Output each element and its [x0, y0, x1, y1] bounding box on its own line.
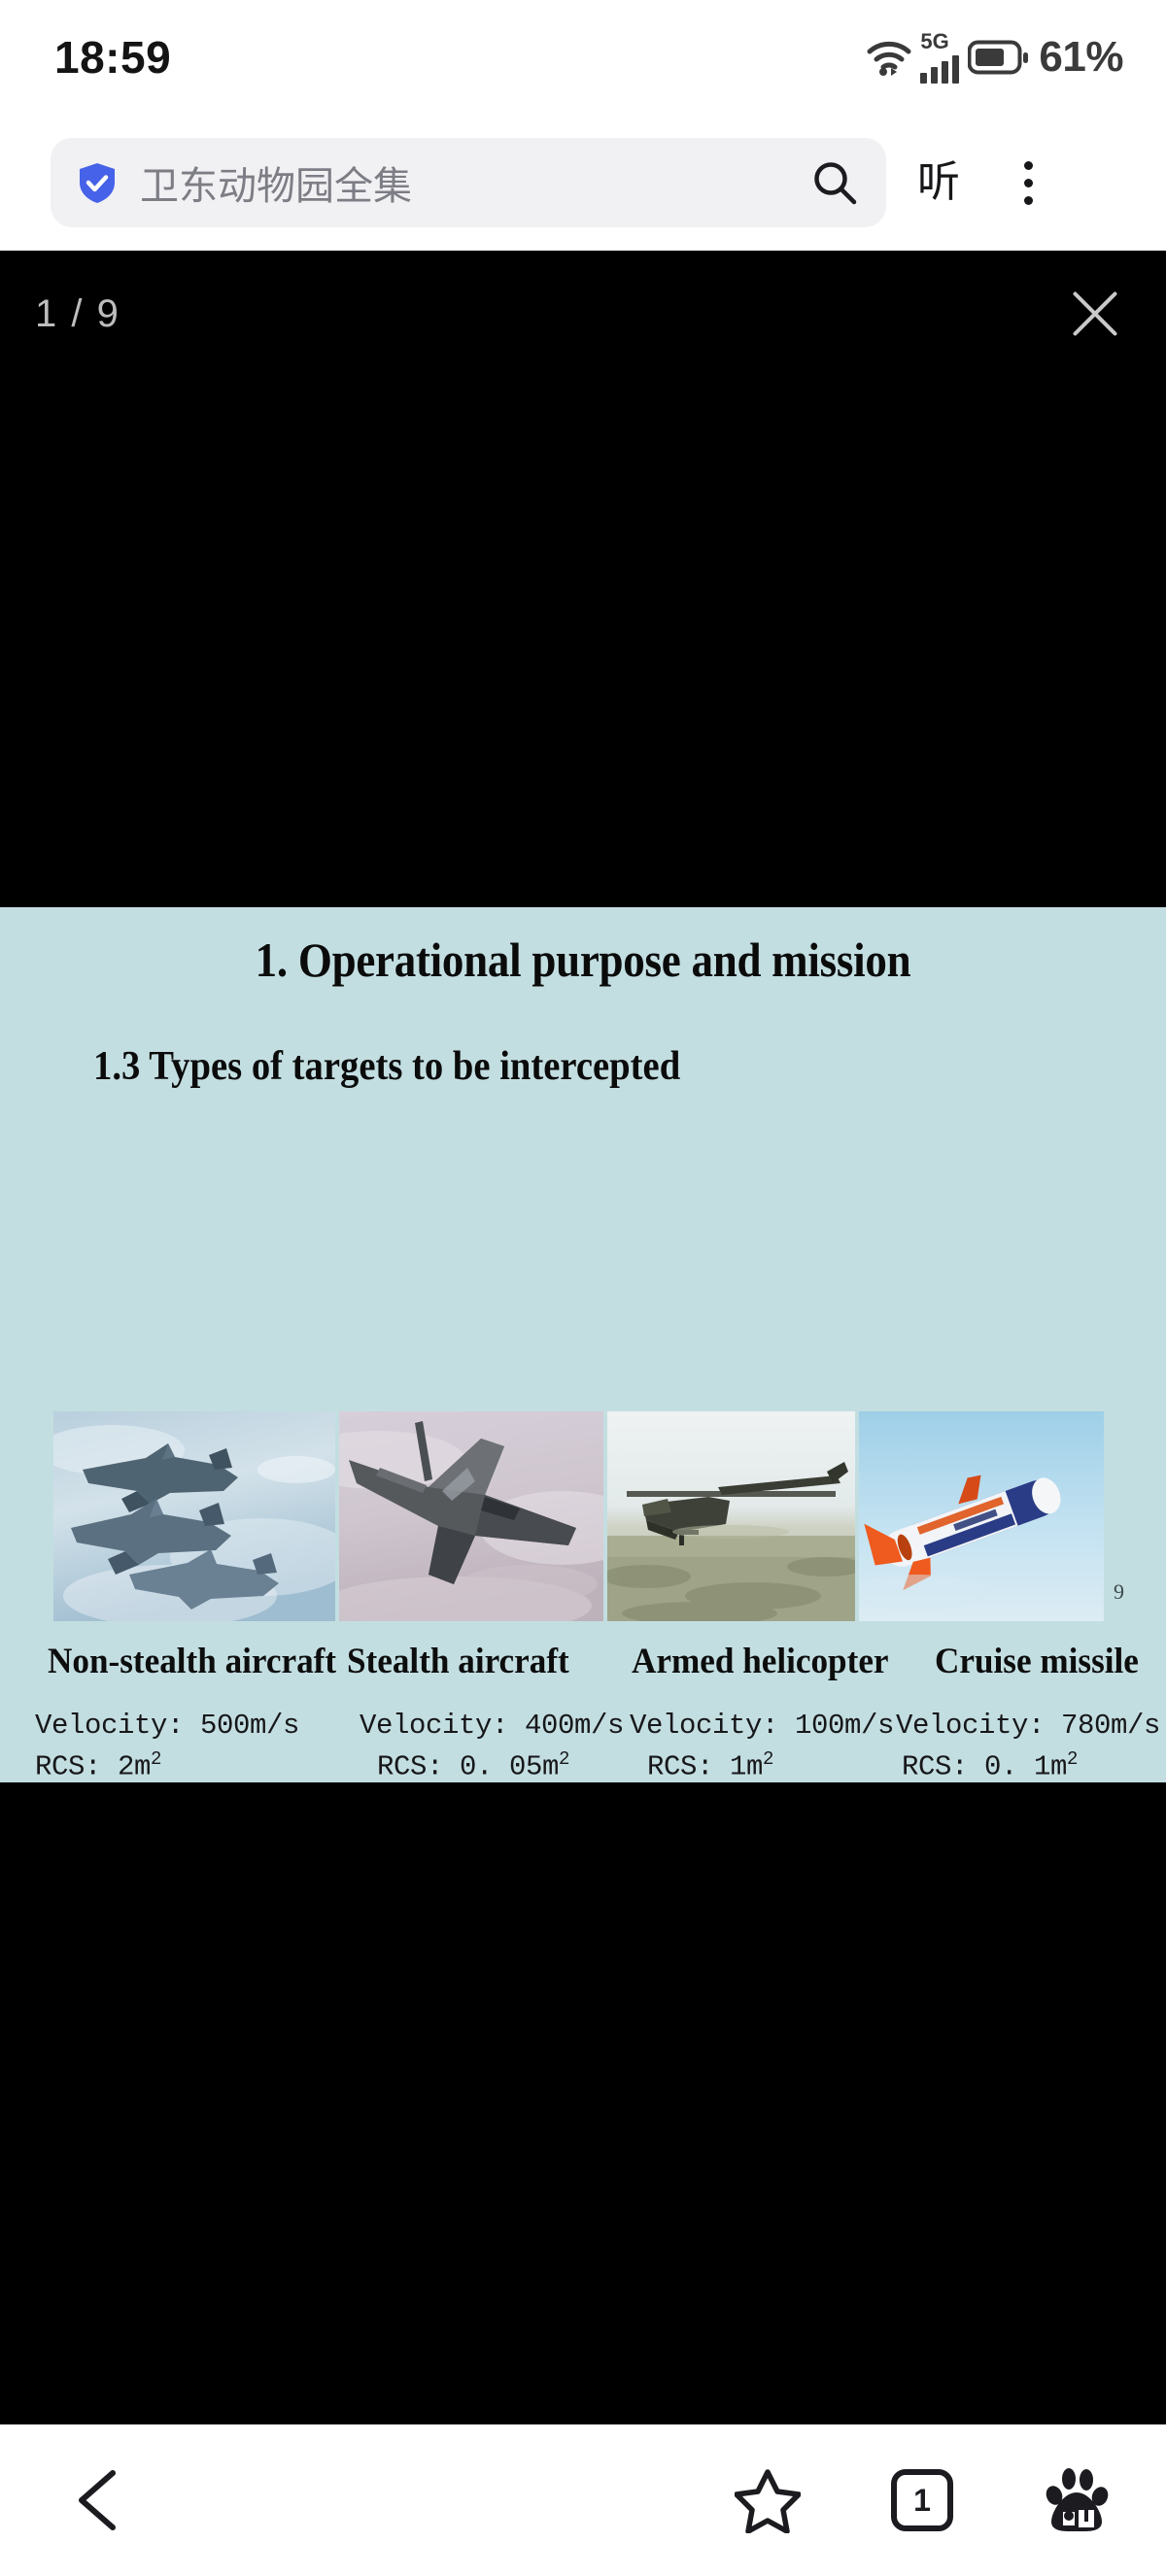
- target-velocity-0: Velocity: 500m/s: [35, 1710, 299, 1742]
- target-rcs-1: RCS: 0. 05m2: [377, 1748, 569, 1782]
- slide-canvas[interactable]: 1. Operational purpose and mission 1.3 T…: [0, 907, 1166, 1782]
- search-icon[interactable]: [810, 158, 859, 207]
- search-input-value: 卫东动物园全集: [140, 154, 810, 211]
- tab-count-icon[interactable]: 1: [891, 2469, 953, 2531]
- slide-page-number: 9: [1114, 1579, 1124, 1605]
- target-caption-2: Armed helicopter: [632, 1641, 889, 1682]
- target-rcs-0: RCS: 2m2: [35, 1748, 161, 1782]
- stealth-aircraft-f117-photo: [339, 1411, 603, 1621]
- armed-helicopter-photo: [607, 1411, 855, 1621]
- tab-count-label: 1: [913, 2485, 931, 2516]
- target-caption-1: Stealth aircraft: [347, 1641, 569, 1682]
- bottom-navigation-bar: 1: [0, 2424, 1166, 2576]
- target-velocity-2: Velocity: 100m/s: [630, 1710, 894, 1742]
- battery-percent-label: 61%: [1039, 33, 1123, 82]
- close-icon[interactable]: [1063, 282, 1127, 346]
- back-chevron-icon[interactable]: [68, 2469, 128, 2531]
- page-indicator: 1 / 9: [35, 292, 120, 336]
- target-rcs-3: RCS: 0. 1m2: [902, 1748, 1078, 1782]
- target-velocity-3: Velocity: 780m/s: [896, 1710, 1160, 1742]
- signal-bars-icon: 5G: [920, 31, 959, 84]
- wifi-icon: [867, 39, 911, 76]
- status-bar: 18:59 5G 61%: [0, 0, 1166, 115]
- target-caption-3: Cruise missile: [935, 1641, 1139, 1682]
- browser-header: 卫东动物园全集 听: [0, 115, 1166, 251]
- star-icon[interactable]: [735, 2467, 801, 2533]
- shield-check-icon: [76, 161, 119, 204]
- kebab-menu-icon[interactable]: [991, 161, 1065, 205]
- network-type-label: 5G: [920, 31, 948, 52]
- listen-button[interactable]: 听: [886, 161, 991, 204]
- document-viewer: 1 / 9 1. Operational purpose and mission…: [0, 251, 1166, 2424]
- cruise-missile-photo: [859, 1411, 1104, 1621]
- baidu-paw-icon[interactable]: [1042, 2465, 1112, 2535]
- viewer-toolbar: 1 / 9: [0, 251, 1166, 377]
- target-velocity-1: Velocity: 400m/s: [360, 1710, 624, 1742]
- search-input[interactable]: 卫东动物园全集: [51, 138, 886, 227]
- status-time: 18:59: [54, 35, 171, 80]
- battery-icon: [968, 40, 1028, 75]
- non-stealth-fighter-jets-photo: [53, 1411, 335, 1621]
- target-rcs-2: RCS: 1m2: [647, 1748, 773, 1782]
- target-caption-0: Non-stealth aircraft: [48, 1641, 336, 1682]
- status-icons: 5G 61%: [867, 31, 1123, 84]
